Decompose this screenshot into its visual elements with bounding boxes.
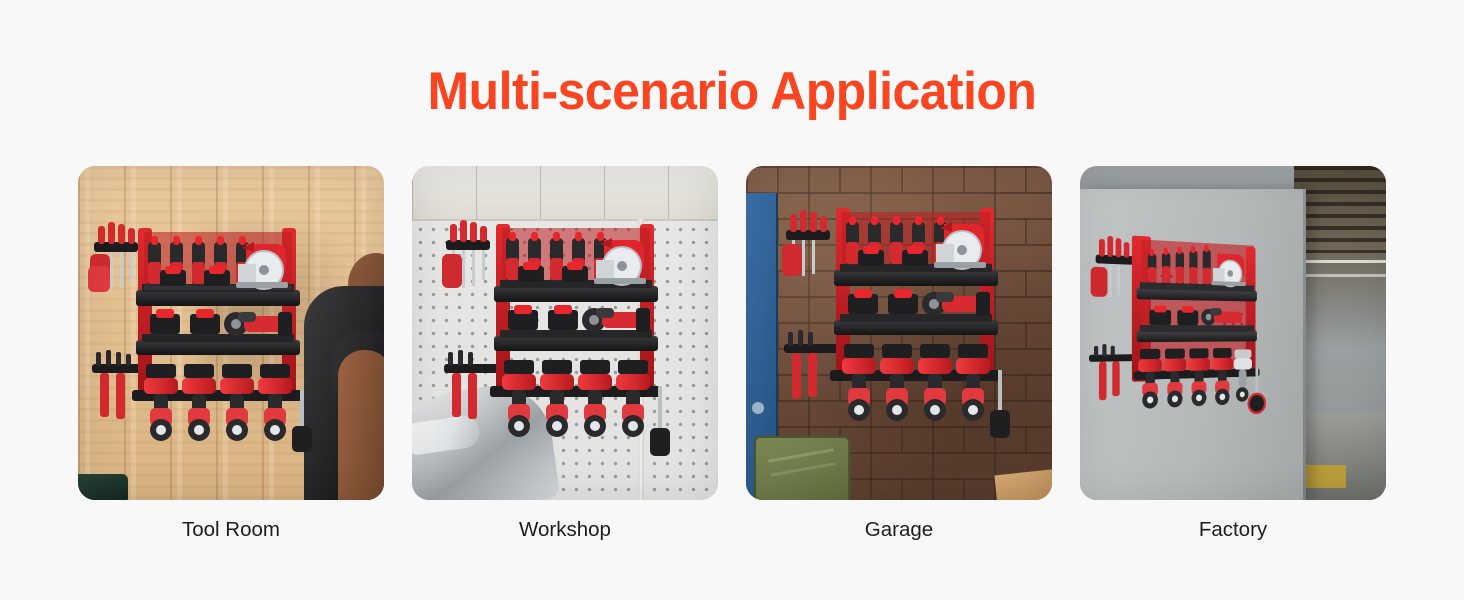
scene-caption-garage: Garage bbox=[746, 518, 1052, 542]
rack-middle-shelf bbox=[136, 340, 300, 355]
rack-top-shelf bbox=[494, 286, 658, 302]
floor-object bbox=[78, 474, 128, 500]
scene-card-factory[interactable]: Factory bbox=[1080, 166, 1386, 500]
angle-grinder bbox=[922, 292, 990, 316]
tool-rack-illustration bbox=[86, 214, 336, 464]
person-arm bbox=[338, 350, 384, 500]
tool-rack-illustration bbox=[784, 194, 1034, 444]
scene-card-workshop[interactable]: Workshop bbox=[412, 166, 718, 500]
angle-grinder bbox=[582, 308, 650, 332]
ceiling-lights bbox=[1294, 260, 1386, 347]
scene-caption-factory: Factory bbox=[1080, 518, 1386, 542]
tool-rack-assembly bbox=[86, 214, 336, 464]
tool-rack-assembly bbox=[444, 210, 694, 460]
scene-caption-tool-room: Tool Room bbox=[78, 518, 384, 542]
hanging-drills bbox=[144, 364, 292, 441]
tool-rack-assembly bbox=[1094, 221, 1281, 441]
hanging-drills bbox=[842, 344, 990, 421]
scene-card-garage[interactable]: Garage bbox=[746, 166, 1052, 500]
tool-rack-illustration bbox=[1094, 221, 1281, 441]
scene-image-garage bbox=[746, 166, 1052, 500]
factory-floor bbox=[1294, 413, 1386, 500]
rack-middle-shelf bbox=[494, 336, 658, 351]
tool-rack-assembly bbox=[784, 194, 1034, 444]
rack-middle-shelf bbox=[834, 320, 998, 335]
scene-caption-workshop: Workshop bbox=[412, 518, 718, 542]
side-tool-hangers bbox=[442, 220, 498, 419]
rack-top-shelf bbox=[834, 270, 998, 286]
ceiling-beams bbox=[1294, 166, 1386, 253]
page-title: Multi-scenario Application bbox=[44, 64, 1420, 120]
scene-card-tool-room[interactable]: Tool Room bbox=[78, 166, 384, 500]
hanging-drills bbox=[502, 360, 650, 437]
scene-image-tool-room bbox=[78, 166, 384, 500]
side-tool-hangers bbox=[782, 210, 838, 399]
scene-image-factory bbox=[1080, 166, 1386, 500]
scene-image-workshop bbox=[412, 166, 718, 500]
mid-shelf-batteries bbox=[848, 289, 918, 314]
tool-rack-illustration bbox=[444, 210, 694, 460]
infographic-page: Multi-scenario Application bbox=[0, 0, 1464, 600]
jerry-can bbox=[754, 436, 850, 500]
rack-top-shelf bbox=[136, 290, 300, 306]
scene-gallery: Tool Room bbox=[78, 166, 1386, 500]
mid-shelf-batteries bbox=[508, 305, 578, 330]
side-tool-hangers bbox=[1089, 235, 1137, 401]
angle-grinder bbox=[224, 312, 292, 336]
rack-middle-shelf bbox=[1137, 330, 1257, 342]
mid-shelf-batteries bbox=[150, 309, 220, 334]
